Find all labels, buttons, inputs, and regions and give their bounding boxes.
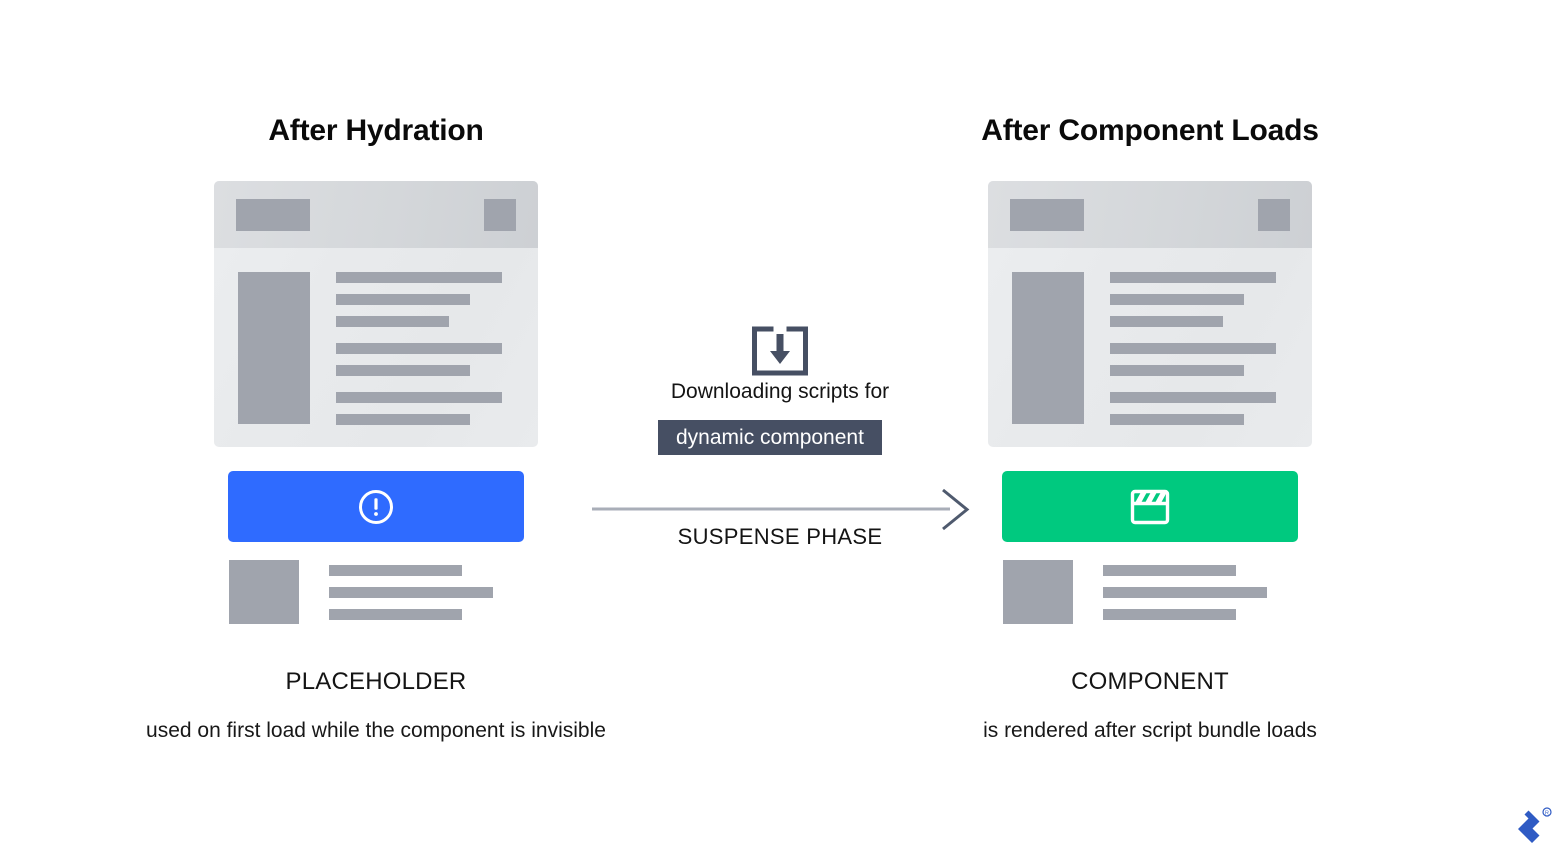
mock-header-bar <box>988 181 1312 248</box>
mock-hero-image <box>238 272 310 424</box>
mock-text-line <box>336 365 470 376</box>
diagram-canvas: After Hydration PLACEHOLDER used on firs… <box>0 0 1560 852</box>
left-browser-mockup <box>214 181 538 447</box>
clapperboard-icon <box>1129 487 1171 527</box>
mock-site-logo <box>236 199 310 231</box>
mock-text-line <box>1110 392 1276 403</box>
mock-site-menu-icon <box>484 199 516 231</box>
svg-text:R: R <box>1545 810 1549 816</box>
component-button[interactable] <box>1002 471 1298 542</box>
mock-text-line <box>1110 294 1244 305</box>
mock-header-bar <box>214 181 538 248</box>
mock-site-menu-icon <box>1258 199 1290 231</box>
lower-text-line <box>1103 565 1236 576</box>
mock-text-line <box>1110 343 1276 354</box>
left-column-title: After Hydration <box>196 114 556 148</box>
left-caption-title: PLACEHOLDER <box>196 668 556 696</box>
left-caption-subtitle: used on first load while the component i… <box>96 719 656 743</box>
dynamic-component-chip: dynamic component <box>658 420 882 455</box>
mock-text-line <box>336 316 449 327</box>
lower-text-line <box>329 609 462 620</box>
mock-text-line <box>1110 414 1244 425</box>
mock-text-line <box>1110 272 1276 283</box>
mock-text-line <box>1110 316 1223 327</box>
mock-body <box>214 248 538 447</box>
lower-text-line <box>329 587 493 598</box>
mock-text-line <box>336 272 502 283</box>
company-logo: R <box>1514 806 1554 846</box>
mock-body <box>988 248 1312 447</box>
mock-text-line <box>336 392 502 403</box>
right-browser-mockup <box>988 181 1312 447</box>
mock-text-line <box>336 343 502 354</box>
lower-thumbnail <box>229 560 299 624</box>
mock-site-logo <box>1010 199 1084 231</box>
lower-thumbnail <box>1003 560 1073 624</box>
placeholder-button[interactable] <box>228 471 524 542</box>
mock-text-line <box>336 294 470 305</box>
lower-text-line <box>329 565 462 576</box>
download-tray-icon <box>749 324 811 378</box>
transition-description: Downloading scripts for <box>600 380 960 404</box>
mock-text-line <box>1110 365 1244 376</box>
right-caption-subtitle: is rendered after script bundle loads <box>870 719 1430 743</box>
mock-hero-image <box>1012 272 1084 424</box>
suspense-phase-label: SUSPENSE PHASE <box>600 524 960 550</box>
alert-circle-icon <box>356 487 396 527</box>
lower-text-line <box>1103 587 1267 598</box>
right-caption-title: COMPONENT <box>970 668 1330 696</box>
right-column-title: After Component Loads <box>970 114 1330 148</box>
lower-text-line <box>1103 609 1236 620</box>
mock-text-line <box>336 414 470 425</box>
